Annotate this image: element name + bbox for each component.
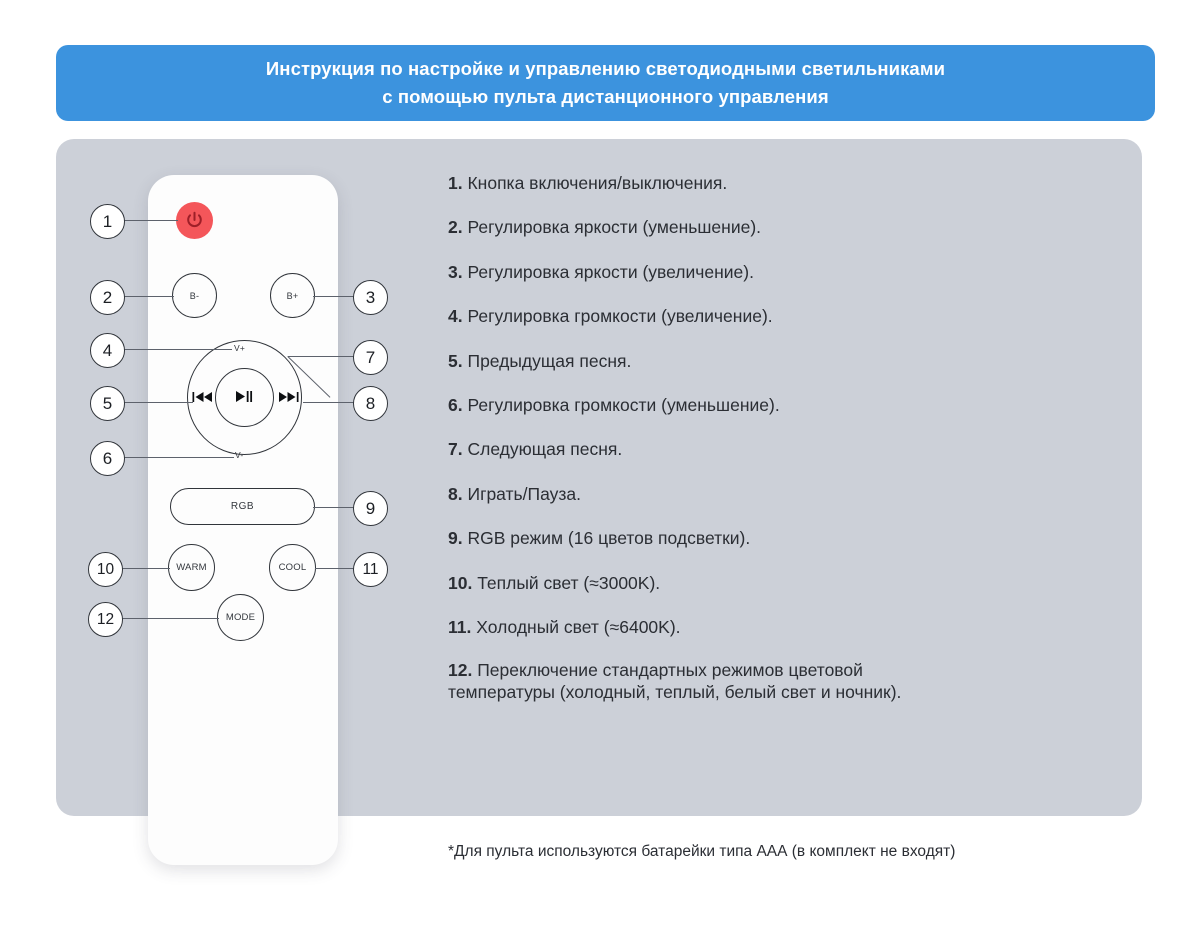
leader-line-9 <box>313 507 354 508</box>
warm-label: WARM <box>176 562 207 573</box>
next-track-glyph <box>277 390 299 404</box>
list-item: 8. Играть/Пауза. <box>448 483 1108 505</box>
leader-line-7 <box>288 356 354 357</box>
list-item: 1. Кнопка включения/выключения. <box>448 172 1108 194</box>
item-text: Следующая песня. <box>467 439 622 459</box>
leader-line-11 <box>315 568 354 569</box>
instruction-list: 1. Кнопка включения/выключения. 2. Регул… <box>448 172 1108 725</box>
list-item: 10. Теплый свет (≈3000K). <box>448 572 1108 594</box>
footnote-text: *Для пульта используются батарейки типа … <box>448 843 955 861</box>
callout-3-label: 3 <box>366 288 375 308</box>
callout-11-label: 11 <box>362 561 378 579</box>
leader-line-8 <box>303 402 354 403</box>
callout-1[interactable]: 1 <box>90 204 125 239</box>
previous-track-glyph <box>192 390 214 404</box>
callout-10-label: 10 <box>97 561 114 579</box>
volume-down-label[interactable]: V- <box>235 450 243 460</box>
item-text: Играть/Пауза. <box>467 484 581 504</box>
list-item: 5. Предыдущая песня. <box>448 350 1108 372</box>
item-text: Регулировка яркости (увеличение). <box>467 262 754 282</box>
item-number: 5. <box>448 351 463 371</box>
leader-line-5 <box>122 402 193 403</box>
item-number: 12. <box>448 660 472 680</box>
item-text: Регулировка громкости (увеличение). <box>467 306 772 326</box>
callout-11[interactable]: 11 <box>353 552 388 587</box>
power-button[interactable] <box>176 202 213 239</box>
item-number: 4. <box>448 306 463 326</box>
brightness-up-button[interactable]: B+ <box>270 273 315 318</box>
item-text: Регулировка яркости (уменьшение). <box>467 217 761 237</box>
item-number: 9. <box>448 528 463 548</box>
leader-line-3 <box>313 296 354 297</box>
item-text: RGB режим (16 цветов подсветки). <box>467 528 750 548</box>
play-pause-glyph <box>233 389 255 404</box>
brightness-up-label: B+ <box>287 291 299 301</box>
leader-line-12 <box>122 618 219 619</box>
item-number: 7. <box>448 439 463 459</box>
power-icon <box>184 210 205 231</box>
list-item: 2. Регулировка яркости (уменьшение). <box>448 216 1108 238</box>
mode-label: MODE <box>226 612 255 623</box>
list-item: 12. Переключение стандартных режимов цве… <box>448 660 908 703</box>
leader-line-6 <box>122 457 234 458</box>
item-number: 10. <box>448 573 472 593</box>
header-title-line2: с помощью пульта дистанционного управлен… <box>382 86 829 107</box>
callout-7-label: 7 <box>366 348 375 368</box>
callout-1-label: 1 <box>103 212 112 232</box>
header-title-line1: Инструкция по настройке и управлению све… <box>266 58 945 79</box>
callout-3[interactable]: 3 <box>353 280 388 315</box>
item-number: 1. <box>448 173 463 193</box>
callout-6[interactable]: 6 <box>90 441 125 476</box>
callout-4-label: 4 <box>103 341 112 361</box>
cool-label: COOL <box>279 562 307 573</box>
callout-12[interactable]: 12 <box>88 602 123 637</box>
list-item: 6. Регулировка громкости (уменьшение). <box>448 394 1108 416</box>
callout-10[interactable]: 10 <box>88 552 123 587</box>
callout-12-label: 12 <box>97 611 114 629</box>
play-pause-icon[interactable] <box>233 389 255 407</box>
callout-2-label: 2 <box>103 288 112 308</box>
header-banner: Инструкция по настройке и управлению све… <box>56 45 1155 121</box>
callout-9-label: 9 <box>366 499 375 519</box>
callout-8-label: 8 <box>366 394 375 414</box>
cool-button[interactable]: COOL <box>269 544 316 591</box>
item-text: Кнопка включения/выключения. <box>467 173 727 193</box>
brightness-down-button[interactable]: B- <box>172 273 217 318</box>
callout-4[interactable]: 4 <box>90 333 125 368</box>
callout-2[interactable]: 2 <box>90 280 125 315</box>
item-number: 3. <box>448 262 463 282</box>
list-item: 4. Регулировка громкости (увеличение). <box>448 305 1108 327</box>
leader-line-2 <box>122 296 174 297</box>
mode-button[interactable]: MODE <box>217 594 264 641</box>
leader-line-10 <box>122 568 170 569</box>
item-text: Холодный свет (≈6400K). <box>476 617 680 637</box>
list-item: 3. Регулировка яркости (увеличение). <box>448 261 1108 283</box>
item-text: Теплый свет (≈3000K). <box>477 573 660 593</box>
leader-line-1 <box>122 220 178 221</box>
list-item: 7. Следующая песня. <box>448 438 1108 460</box>
page-title: Инструкция по настройке и управлению све… <box>266 55 945 111</box>
callout-7[interactable]: 7 <box>353 340 388 375</box>
callout-9[interactable]: 9 <box>353 491 388 526</box>
rgb-label: RGB <box>231 501 254 512</box>
callout-5[interactable]: 5 <box>90 386 125 421</box>
brightness-down-label: B- <box>190 291 199 301</box>
callout-8[interactable]: 8 <box>353 386 388 421</box>
callout-6-label: 6 <box>103 449 112 469</box>
next-track-icon[interactable] <box>277 390 299 406</box>
list-item: 11. Холодный свет (≈6400K). <box>448 616 1108 638</box>
volume-up-label[interactable]: V+ <box>234 343 245 353</box>
item-number: 8. <box>448 484 463 504</box>
list-item: 9. RGB режим (16 цветов подсветки). <box>448 527 1108 549</box>
leader-line-4 <box>122 349 232 350</box>
item-number: 11. <box>448 617 471 637</box>
item-text: Регулировка громкости (уменьшение). <box>467 395 779 415</box>
item-number: 6. <box>448 395 463 415</box>
previous-track-icon[interactable] <box>192 390 214 406</box>
item-text: Переключение стандартных режимов цветово… <box>448 660 901 701</box>
item-text: Предыдущая песня. <box>467 351 631 371</box>
item-number: 2. <box>448 217 463 237</box>
callout-5-label: 5 <box>103 394 112 414</box>
rgb-button[interactable]: RGB <box>170 488 315 525</box>
warm-button[interactable]: WARM <box>168 544 215 591</box>
